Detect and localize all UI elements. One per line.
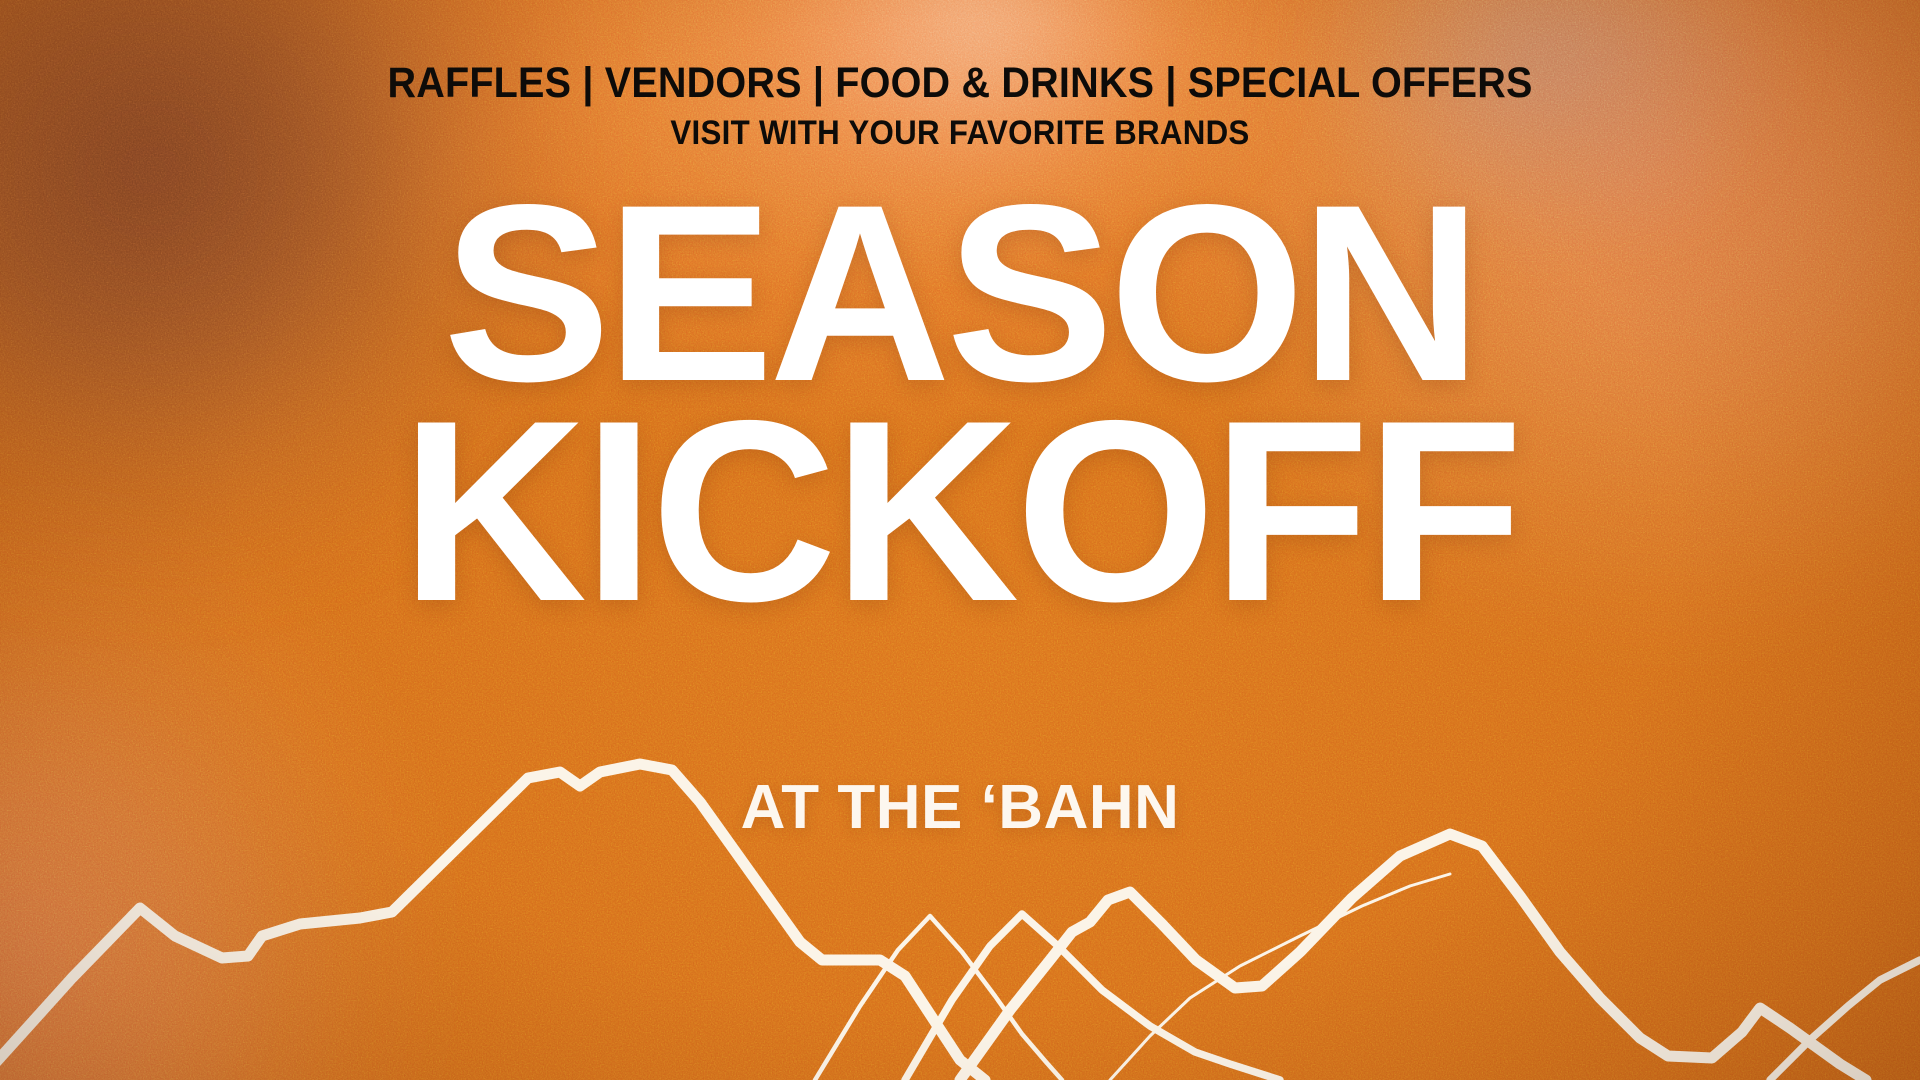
venue-label: AT THE ‘BAHN xyxy=(0,772,1920,843)
headline-line-2: KICKOFF xyxy=(0,401,1920,622)
eyebrow-line-2: VISIT WITH YOUR FAVORITE BRANDS xyxy=(77,116,1843,150)
eyebrow-block: RAFFLES | VENDORS | FOOD & DRINKS | SPEC… xyxy=(0,62,1920,150)
headline-block: SEASON KICKOFF xyxy=(0,186,1920,622)
poster-canvas: RAFFLES | VENDORS | FOOD & DRINKS | SPEC… xyxy=(0,0,1920,1080)
eyebrow-line-1: RAFFLES | VENDORS | FOOD & DRINKS | SPEC… xyxy=(77,62,1843,105)
poster-text-content: RAFFLES | VENDORS | FOOD & DRINKS | SPEC… xyxy=(0,0,1920,1080)
